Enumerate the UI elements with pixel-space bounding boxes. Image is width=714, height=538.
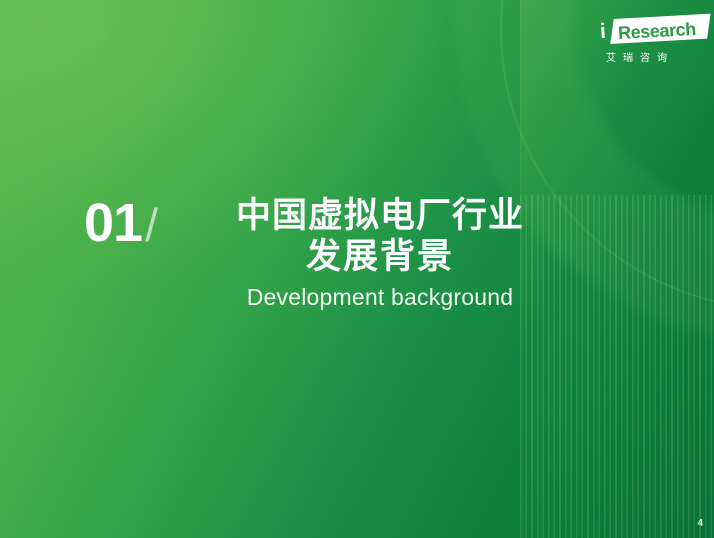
logo-letter-i: i [599, 21, 606, 42]
section-title-line1: 中国虚拟电厂行业 [205, 196, 555, 237]
iresearch-logo: i Research 艾瑞咨询 [598, 17, 710, 67]
section-title-line2: 发展背景 [205, 237, 555, 278]
logo-wordmark: Research [618, 20, 697, 42]
page-number: 4 [697, 518, 703, 529]
section-number-separator: / [145, 202, 158, 248]
section-number-value: 01 [84, 196, 142, 250]
slide-canvas: i Research 艾瑞咨询 01 / 中国虚拟电厂行业 发展背景 Devel… [0, 0, 714, 538]
section-number: 01 / [84, 196, 158, 250]
logo-mark: i Research [598, 17, 710, 49]
section-subtitle: Development background [205, 285, 555, 310]
section-title-block: 中国虚拟电厂行业 发展背景 Development background [205, 196, 555, 310]
logo-chinese-name: 艾瑞咨询 [606, 49, 674, 64]
